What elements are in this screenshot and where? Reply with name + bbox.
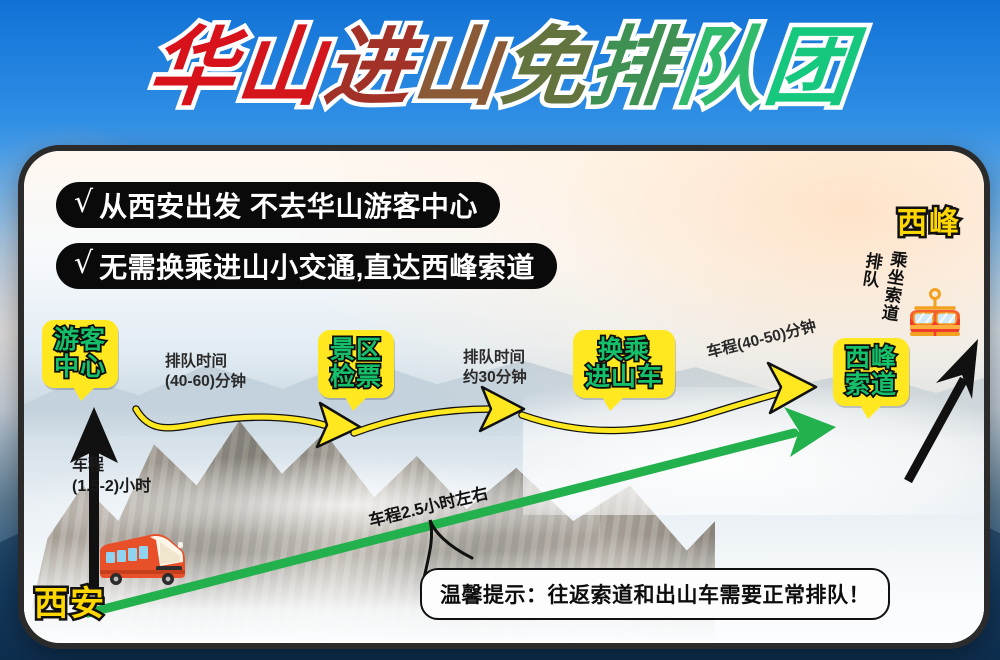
title-char-6: 队 — [672, 25, 767, 111]
title-char-1: 山 — [232, 25, 327, 111]
flow-node-visitor-center: 游客 中心 — [42, 320, 118, 388]
flow-node-visitor-center-line1: 游客 — [54, 327, 106, 354]
poster-canvas: 华 山 进 山 免 排 队 团 — [0, 0, 1000, 660]
bubble-tail — [859, 403, 884, 419]
flow-arrowhead-3 — [768, 363, 816, 413]
bus-icon — [92, 528, 188, 590]
destination-label-west-peak: 西峰 — [897, 198, 961, 242]
summit-arrow-shaft — [908, 379, 964, 481]
title-char-4: 免 — [496, 25, 591, 111]
flow-node-ticket-check-line1: 景区 — [330, 337, 382, 364]
origin-drive-caption: 车程 (1.5-2)小时 — [72, 456, 151, 498]
banner-pill-2: √ 无需换乘进山小交通,直达西峰索道 — [56, 243, 557, 289]
flow-node-west-cableway-line1: 西峰 — [845, 345, 897, 372]
flow-node-shuttle-bus-line1: 换乘 — [585, 337, 663, 364]
bubble-tail — [72, 385, 97, 401]
flow-node-ticket-check-line2: 检票 — [330, 364, 382, 391]
banner-pill-2-text: 无需换乘进山小交通,直达西峰索道 — [99, 246, 535, 286]
cable-car-icon — [902, 288, 968, 346]
title-char-2: 进 — [320, 25, 415, 111]
poster-title: 华 山 进 山 免 排 队 团 — [0, 14, 1000, 122]
banner-pill-1: √ 从西安出发 不去华山游客中心 — [56, 182, 500, 228]
flow-caption-queue-1: 排队时间 (40-60)分钟 — [165, 352, 246, 392]
flow-node-shuttle-bus-line2: 进山车 — [585, 364, 663, 391]
title-char-0: 华 — [144, 25, 239, 111]
check-icon: √ — [74, 188, 93, 218]
banner-pill-1-text: 从西安出发 不去华山游客中心 — [99, 185, 478, 225]
flow-node-ticket-check: 景区 检票 — [318, 330, 394, 398]
flow-node-west-cableway-line2: 索道 — [845, 372, 897, 399]
title-char-5: 排 — [584, 25, 679, 111]
title-char-3: 山 — [408, 25, 503, 111]
tip-callout-box: 温馨提示：往返索道和出山车需要正常排队！ — [420, 568, 890, 620]
flow-node-visitor-center-line2: 中心 — [54, 354, 106, 381]
flow-caption-queue-2: 排队时间 约30分钟 — [463, 348, 527, 388]
bubble-tail — [601, 395, 626, 411]
title-char-7: 团 — [760, 25, 855, 111]
flow-node-shuttle-bus: 换乘 进山车 — [573, 330, 675, 398]
check-icon: √ — [74, 249, 93, 279]
flow-node-west-cableway: 西峰 索道 — [833, 338, 909, 406]
tip-text: 温馨提示：往返索道和出山车需要正常排队！ — [440, 584, 870, 607]
bubble-tail — [344, 395, 369, 411]
